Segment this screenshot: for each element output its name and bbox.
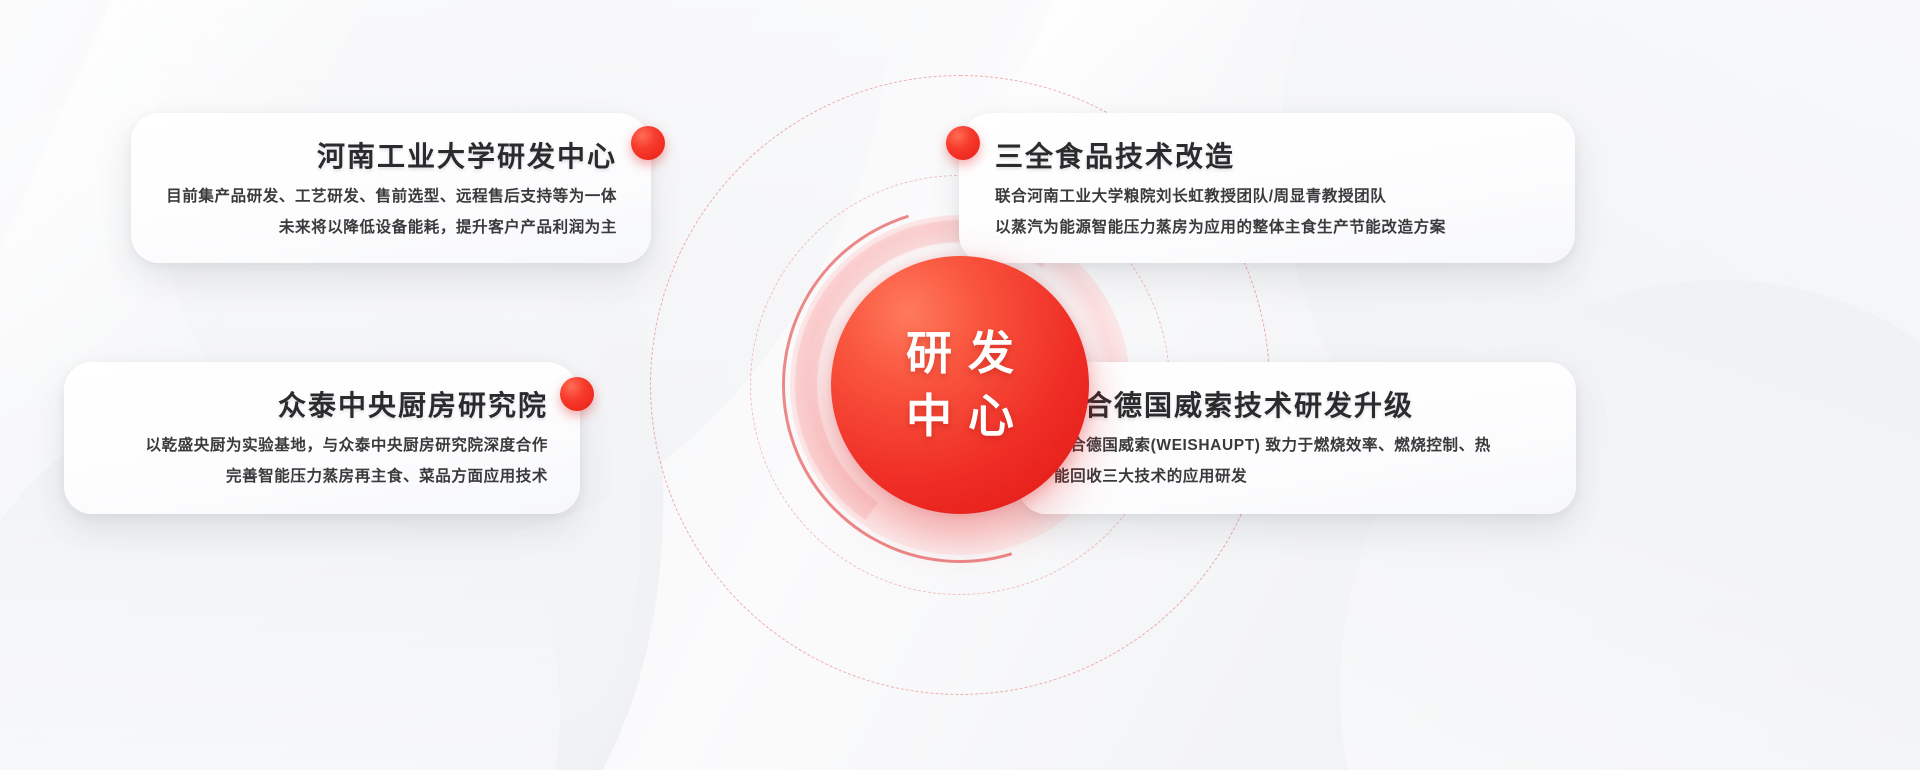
infographic-stage: 研发 中心 河南工业大学研发中心 目前集产品研发、工艺研发、售前选型、远程售后支…	[0, 0, 1920, 770]
card-sanquan-food-technical-upgrade[interactable]: 三全食品技术改造 联合河南工业大学粮院刘长虹教授团队/周显青教授团队 以蒸汽为能…	[959, 113, 1575, 263]
card-line-2: 完善智能压力蒸房再主食、菜品方面应用技术	[145, 461, 548, 492]
card-body: 联合德国威索技术研发升级 联合德国威索(WEISHAUPT) 致力于燃烧效率、燃…	[1054, 384, 1491, 492]
card-line-2: 能回收三大技术的应用研发	[1054, 461, 1491, 492]
center-badge: 研发 中心	[831, 256, 1089, 514]
card-title: 众泰中央厨房研究院	[145, 384, 548, 424]
card-line-2: 以蒸汽为能源智能压力蒸房为应用的整体主食生产节能改造方案	[995, 212, 1446, 243]
card-henan-university-of-technology-rd-center[interactable]: 河南工业大学研发中心 目前集产品研发、工艺研发、售前选型、远程售后支持等为一体 …	[131, 113, 651, 263]
center-badge-line-1: 研发	[890, 322, 1030, 385]
card-marker-dot-icon	[560, 377, 594, 411]
card-weishaupt-joint-rd-upgrade[interactable]: 联合德国威索技术研发升级 联合德国威索(WEISHAUPT) 致力于燃烧效率、燃…	[1018, 362, 1576, 514]
card-line-1: 联合河南工业大学粮院刘长虹教授团队/周显青教授团队	[995, 181, 1446, 212]
center-badge-line-2: 中心	[890, 385, 1030, 448]
card-body: 河南工业大学研发中心 目前集产品研发、工艺研发、售前选型、远程售后支持等为一体 …	[166, 135, 617, 243]
card-line-1: 目前集产品研发、工艺研发、售前选型、远程售后支持等为一体	[166, 181, 617, 212]
background-circle-bottom-right	[1340, 280, 1920, 770]
card-line-1: 以乾盛央厨为实验基地，与众泰中央厨房研究院深度合作	[145, 430, 548, 461]
card-title: 联合德国威索技术研发升级	[1054, 384, 1491, 424]
card-title: 三全食品技术改造	[995, 135, 1446, 175]
card-line-1: 联合德国威索(WEISHAUPT) 致力于燃烧效率、燃烧控制、热	[1054, 430, 1491, 461]
card-zhongtai-central-kitchen-institute[interactable]: 众泰中央厨房研究院 以乾盛央厨为实验基地，与众泰中央厨房研究院深度合作 完善智能…	[64, 362, 580, 514]
card-line-2: 未来将以降低设备能耗，提升客户产品利润为主	[166, 212, 617, 243]
card-marker-dot-icon	[946, 126, 980, 160]
card-body: 三全食品技术改造 联合河南工业大学粮院刘长虹教授团队/周显青教授团队 以蒸汽为能…	[995, 135, 1446, 243]
card-title: 河南工业大学研发中心	[166, 135, 617, 175]
card-body: 众泰中央厨房研究院 以乾盛央厨为实验基地，与众泰中央厨房研究院深度合作 完善智能…	[145, 384, 548, 492]
background-swoosh-top-right	[1196, 0, 1920, 682]
card-marker-dot-icon	[631, 126, 665, 160]
